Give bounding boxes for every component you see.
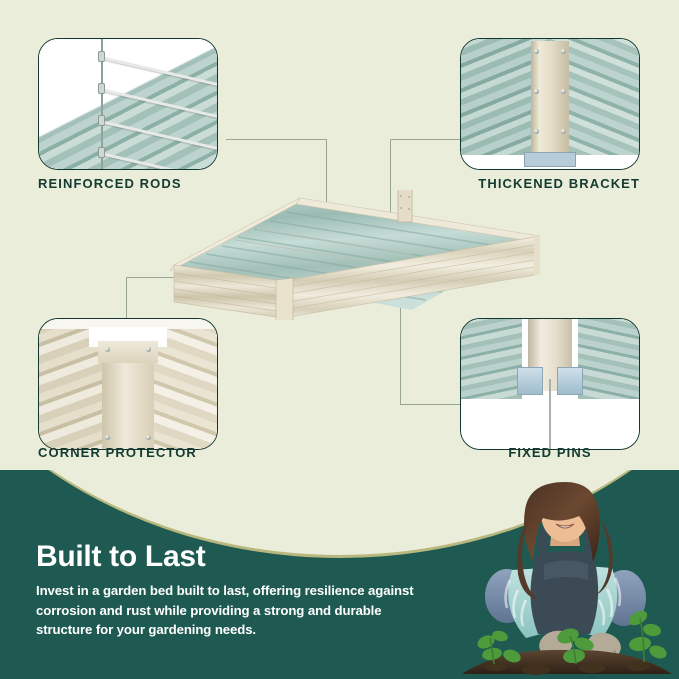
reinforced-rods-image bbox=[39, 39, 217, 169]
banner-title: Built to Last bbox=[36, 542, 426, 572]
fixed-pins-image bbox=[461, 319, 639, 449]
fixed-pin-bracket-right bbox=[557, 367, 583, 395]
connector-line-corner-protector-v bbox=[126, 277, 127, 321]
connector-line-reinforced-rods-h bbox=[226, 139, 326, 140]
infographic-root: REINFORCED RODS THICKENED BRACKET bbox=[0, 0, 679, 679]
gardener-photo bbox=[452, 478, 679, 679]
feature-label-fixed-pins: FIXED PINS bbox=[460, 445, 640, 460]
bracket-plate bbox=[531, 41, 569, 159]
feature-label-thickened-bracket: THICKENED BRACKET bbox=[460, 176, 640, 191]
feature-card-fixed-pins[interactable] bbox=[460, 318, 640, 450]
banner-description: Invest in a garden bed built to last, of… bbox=[36, 581, 426, 640]
corner-cap bbox=[98, 341, 158, 363]
thickened-bracket-image bbox=[461, 39, 639, 169]
ground-pin-rod bbox=[549, 379, 551, 450]
feature-card-reinforced-rods[interactable] bbox=[38, 38, 218, 170]
banner-text-block: Built to Last Invest in a garden bed bui… bbox=[36, 542, 426, 640]
feature-label-reinforced-rods: REINFORCED RODS bbox=[38, 176, 298, 191]
corner-protector-image bbox=[39, 319, 217, 449]
connector-line-thickened-bracket-h bbox=[390, 139, 460, 140]
fixed-pin-bracket-left bbox=[517, 367, 543, 395]
feature-card-thickened-bracket[interactable] bbox=[460, 38, 640, 170]
feature-card-corner-protector[interactable] bbox=[38, 318, 218, 450]
bracket-foot-plate bbox=[524, 152, 576, 167]
feature-label-corner-protector: CORNER PROTECTOR bbox=[38, 445, 298, 460]
product-illustration bbox=[150, 190, 540, 320]
